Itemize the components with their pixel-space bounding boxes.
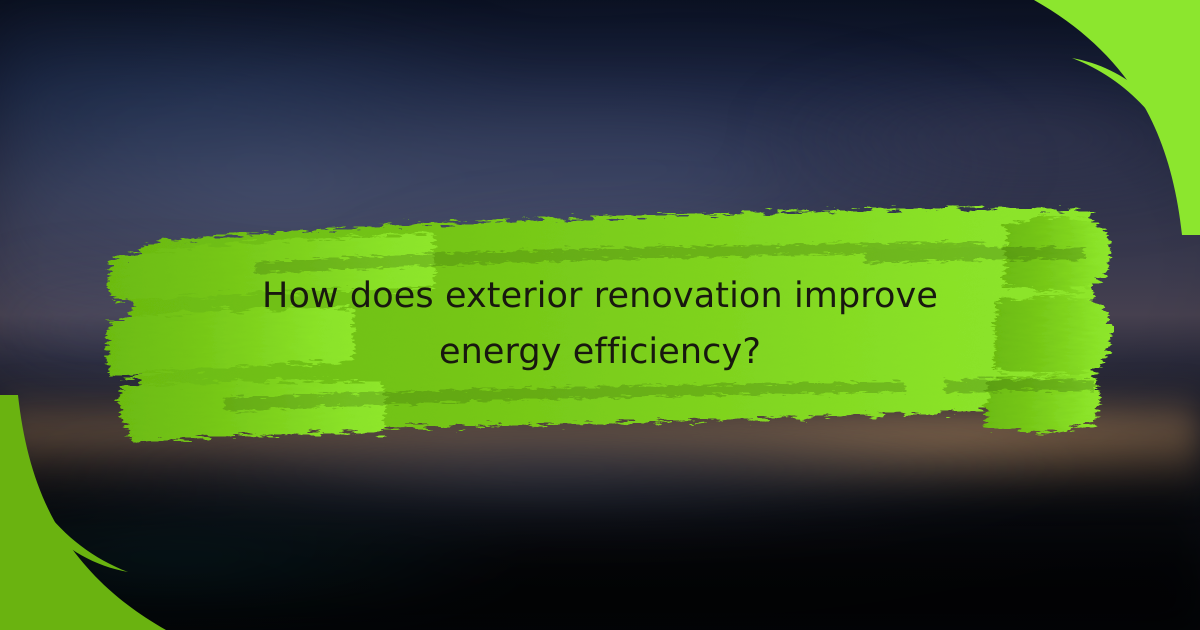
brush-bristle-lower-left	[119, 381, 384, 442]
page-title: How does exterior renovation improve ene…	[150, 268, 1050, 380]
question-card-canvas: How does exterior renovation improve ene…	[0, 0, 1200, 630]
